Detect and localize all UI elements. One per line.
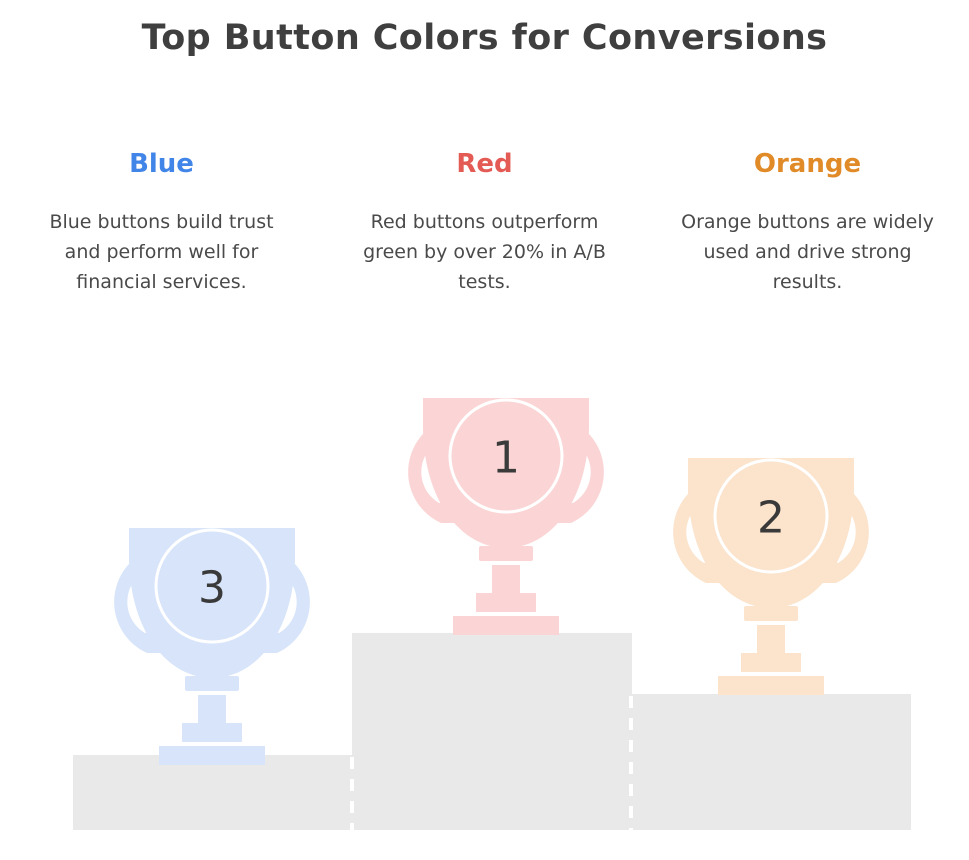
trophy-rank-number-blue: 3: [198, 563, 226, 614]
trophy-stem-blue: [198, 695, 226, 723]
trophy-stem-red: [492, 565, 520, 593]
trophy-plate-orange: [741, 653, 801, 672]
trophy-plate-blue: [182, 723, 242, 742]
trophy-base-red: [453, 616, 559, 635]
trophy-neck-blue: [185, 676, 239, 691]
podium-block-third: [73, 755, 353, 830]
podium-divider-left: [350, 757, 354, 830]
trophy-stem-orange: [757, 625, 785, 653]
trophy-blue: 3: [81, 520, 343, 760]
podium-block-second: [631, 694, 911, 830]
trophy-orange: 2: [640, 450, 902, 690]
trophy-rank-number-red: 1: [492, 433, 520, 484]
trophy-neck-orange: [744, 606, 798, 621]
trophy-red: 1: [375, 390, 637, 630]
podium-divider-right: [629, 696, 633, 830]
infographic-canvas: Top Button Colors for Conversions Blue B…: [0, 0, 969, 860]
podium-block-first: [352, 633, 632, 830]
trophy-base-blue: [159, 746, 265, 765]
trophy-rank-number-orange: 2: [757, 493, 785, 544]
trophy-plate-red: [476, 593, 536, 612]
trophy-neck-red: [479, 546, 533, 561]
trophy-base-orange: [718, 676, 824, 695]
